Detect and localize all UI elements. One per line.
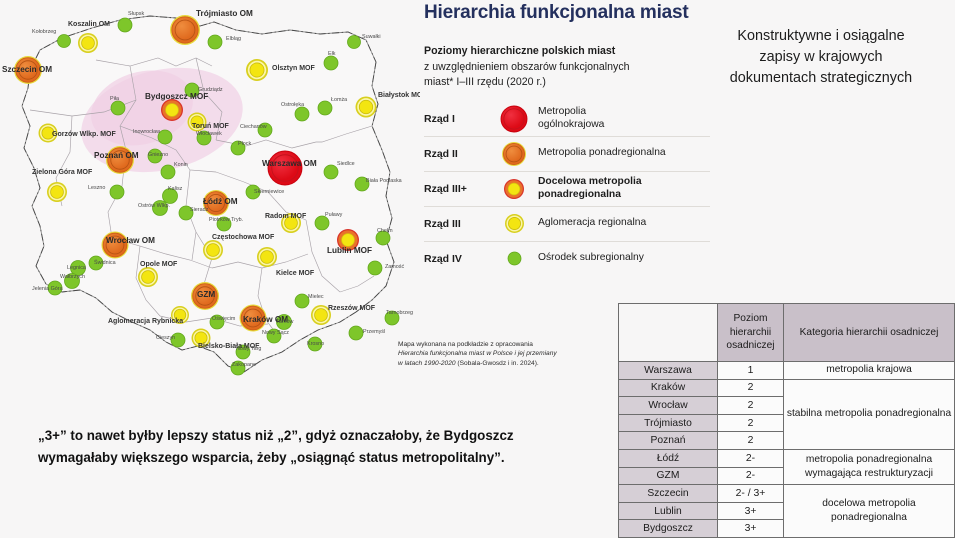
- cell-city: Wrocław: [619, 397, 718, 415]
- table-body: Warszawa1metropolia krajowaKraków2stabil…: [619, 362, 955, 538]
- cell-category: metropolia ponadregionalna wymagająca re…: [784, 449, 955, 484]
- city-marker: [118, 18, 132, 32]
- legend-heading-line3: miast* I–III rzędu (2020 r.): [424, 75, 710, 91]
- city-marker: [311, 305, 331, 325]
- legend-rank: Rząd II: [424, 148, 490, 160]
- city-label: Słupsk: [128, 11, 144, 17]
- map-source-note: Mapa wykonana na podkładzie z opracowani…: [398, 340, 630, 368]
- cell-city: GZM: [619, 467, 718, 485]
- city-marker: [231, 361, 245, 375]
- city-marker: [295, 107, 309, 121]
- city-marker: [356, 97, 377, 118]
- city-marker: [246, 185, 260, 199]
- statement-text: „3+” to nawet byłby lepszy status niż „2…: [38, 425, 628, 469]
- cell-level: 2-: [718, 449, 784, 467]
- cell-level: 3+: [718, 520, 784, 538]
- city-marker: [258, 123, 272, 137]
- city-marker: [231, 141, 245, 155]
- legend-row-2: Rząd IIMetropolia ponadregionalna: [424, 136, 710, 171]
- legend-marker-green: [490, 251, 538, 266]
- city-marker: [295, 294, 309, 308]
- city-marker: [368, 261, 382, 275]
- city-marker: [257, 247, 277, 267]
- city-marker: [171, 333, 185, 347]
- city-marker: [308, 337, 322, 351]
- city-marker: [191, 282, 219, 310]
- table-row: Szczecin2- / 3+docelowa metropolia ponad…: [619, 485, 955, 503]
- city-marker: [110, 185, 124, 199]
- city-marker: [39, 124, 58, 143]
- city-marker: [355, 177, 369, 191]
- city-marker: [188, 113, 207, 132]
- cell-category: stabilna metropolia ponadregionalna: [784, 379, 955, 449]
- source-line-3-italic: w latach 1990-2020: [398, 360, 456, 367]
- city-marker: [337, 229, 359, 251]
- city-marker: [281, 213, 301, 233]
- legend-label: Metropoliaogólnokrajowa: [538, 106, 604, 131]
- city-marker: [208, 35, 222, 49]
- city-marker: [240, 305, 267, 332]
- table-header-row: Poziom hierarchii osadniczej Kategoria h…: [619, 304, 955, 362]
- legend-row-5: Rząd IVOśrodek subregionalny: [424, 241, 710, 276]
- header-level: Poziom hierarchii osadniczej: [718, 304, 784, 362]
- legend-marker-yellow: [490, 213, 538, 234]
- city-marker: [170, 15, 200, 45]
- cell-level: 3+: [718, 502, 784, 520]
- city-marker: [148, 149, 162, 163]
- map-legend: Poziomy hierarchiczne polskich miast z u…: [424, 44, 710, 276]
- map-svg: Szczecin OMKoszalin OMKołobrzegSłupskTró…: [0, 0, 420, 395]
- city-marker: [385, 311, 399, 325]
- source-line-2: Hierarchia funkcjonalna miast w Polsce i…: [398, 350, 557, 357]
- city-marker: [138, 267, 158, 287]
- city-marker: [14, 56, 42, 84]
- header-city: [619, 304, 718, 362]
- legend-rank: Rząd III+: [424, 183, 490, 195]
- city-marker: [163, 189, 178, 204]
- city-marker: [268, 151, 302, 185]
- statement-line1: „3+” to nawet byłby lepszy status niż „2…: [38, 425, 628, 447]
- cell-city: Lublin: [619, 502, 718, 520]
- city-marker: [106, 146, 134, 174]
- city-marker: [161, 165, 175, 179]
- city-marker: [318, 101, 332, 115]
- city-marker: [158, 130, 172, 144]
- cell-city: Kraków: [619, 379, 718, 397]
- cell-level: 2: [718, 432, 784, 450]
- cell-category: metropolia krajowa: [784, 362, 955, 380]
- legend-label: Ośrodek subregionalny: [538, 252, 644, 265]
- poland-map: Szczecin OMKoszalin OMKołobrzegSłupskTró…: [0, 0, 420, 395]
- hierarchy-table: Poziom hierarchii osadniczej Kategoria h…: [618, 303, 955, 538]
- city-marker: [185, 83, 199, 97]
- source-line-3-rest: (Sobala-Gwosdz i in. 2024).: [456, 360, 539, 367]
- slide-root: Szczecin OMKoszalin OMKołobrzegSłupskTró…: [0, 0, 955, 533]
- city-marker: [111, 101, 125, 115]
- legend-label: Docelowa metropoliaponadregionalna: [538, 176, 642, 201]
- city-marker: [203, 190, 229, 216]
- city-label: Kołobrzeg: [32, 29, 56, 35]
- city-marker: [48, 281, 62, 295]
- city-marker: [161, 99, 183, 121]
- city-marker: [102, 232, 129, 259]
- city-marker: [203, 240, 223, 260]
- legend-marker-red-large: [490, 105, 538, 133]
- cell-city: Bydgoszcz: [619, 520, 718, 538]
- city-marker: [210, 315, 224, 329]
- legend-row-3: Rząd III+Docelowa metropoliaponadregiona…: [424, 171, 710, 206]
- table-head: Poziom hierarchii osadniczej Kategoria h…: [619, 304, 955, 362]
- city-marker: [58, 35, 71, 48]
- city-marker: [236, 345, 250, 359]
- city-marker: [315, 216, 329, 230]
- legend-label: Aglomeracja regionalna: [538, 217, 646, 230]
- legend-rows: Rząd IMetropoliaogólnokrajowaRząd IIMetr…: [424, 102, 710, 276]
- header-category: Kategoria hierarchii osadniczej: [784, 304, 955, 362]
- city-marker: [179, 206, 193, 220]
- city-marker: [349, 326, 363, 340]
- city-marker: [324, 165, 338, 179]
- legend-rank: Rząd I: [424, 113, 490, 125]
- city-marker: [78, 33, 98, 53]
- city-label: Trójmiasto OM: [196, 9, 253, 18]
- city-marker: [348, 36, 361, 49]
- city-marker: [324, 56, 338, 70]
- legend-marker-orange-yellow: [490, 178, 538, 200]
- legend-rank: Rząd IV: [424, 253, 490, 265]
- city-marker: [246, 59, 268, 81]
- city-label: Przemyśl: [363, 329, 385, 335]
- table-row: Łódź2-metropolia ponadregionalna wymagaj…: [619, 449, 955, 467]
- cell-level: 2- / 3+: [718, 485, 784, 503]
- cell-category: docelowa metropolia ponadregionalna: [784, 485, 955, 538]
- city-marker: [89, 256, 103, 270]
- legend-heading: Poziomy hierarchiczne polskich miast z u…: [424, 44, 710, 91]
- legend-label: Metropolia ponadregionalna: [538, 147, 666, 160]
- city-marker: [376, 231, 390, 245]
- cell-level: 2: [718, 379, 784, 397]
- legend-row-1: Rząd IMetropoliaogólnokrajowa: [424, 102, 710, 136]
- legend-marker-orange-large: [490, 141, 538, 167]
- city-marker: [217, 217, 231, 231]
- map-title: Hierarchia funkcjonalna miast: [424, 2, 704, 24]
- cell-level: 2: [718, 397, 784, 415]
- cell-level: 2: [718, 414, 784, 432]
- cell-city: Trójmiasto: [619, 414, 718, 432]
- city-marker: [47, 182, 67, 202]
- cell-city: Szczecin: [619, 485, 718, 503]
- city-marker: [197, 131, 211, 145]
- legend-row-4: Rząd IIIAglomeracja regionalna: [424, 206, 710, 241]
- right-heading: Konstruktywne i osiągalne zapisy w krajo…: [690, 26, 952, 89]
- table-row: Kraków2stabilna metropolia ponadregional…: [619, 379, 955, 397]
- legend-heading-line1: Poziomy hierarchiczne polskich miast: [424, 44, 710, 60]
- cell-city: Poznań: [619, 432, 718, 450]
- city-marker: [171, 306, 189, 324]
- source-line-1: Mapa wykonana na podkładzie z opracowani…: [398, 341, 533, 348]
- cell-city: Warszawa: [619, 362, 718, 380]
- cell-level: 2-: [718, 467, 784, 485]
- legend-rank: Rząd III: [424, 218, 490, 230]
- table-row: Warszawa1metropolia krajowa: [619, 362, 955, 380]
- city-marker: [267, 329, 281, 343]
- city-marker: [65, 274, 80, 289]
- hierarchy-table-wrapper: Poziom hierarchii osadniczej Kategoria h…: [618, 303, 955, 538]
- cell-city: Łódź: [619, 449, 718, 467]
- cell-level: 1: [718, 362, 784, 380]
- right-heading-line3: dokumentach strategicznych: [690, 68, 952, 89]
- right-heading-line1: Konstruktywne i osiągalne: [690, 26, 952, 47]
- city-marker: [277, 315, 292, 330]
- city-marker: [153, 201, 168, 216]
- legend-heading-line2: z uwzględnieniem obszarów funkcjonalnych: [424, 60, 710, 76]
- city-label: Białystok MOF: [378, 92, 420, 99]
- statement-line2: wymagałaby większego wsparcia, żeby „osi…: [38, 447, 628, 469]
- right-heading-line2: zapisy w krajowych: [690, 47, 952, 68]
- city-marker: [192, 329, 211, 348]
